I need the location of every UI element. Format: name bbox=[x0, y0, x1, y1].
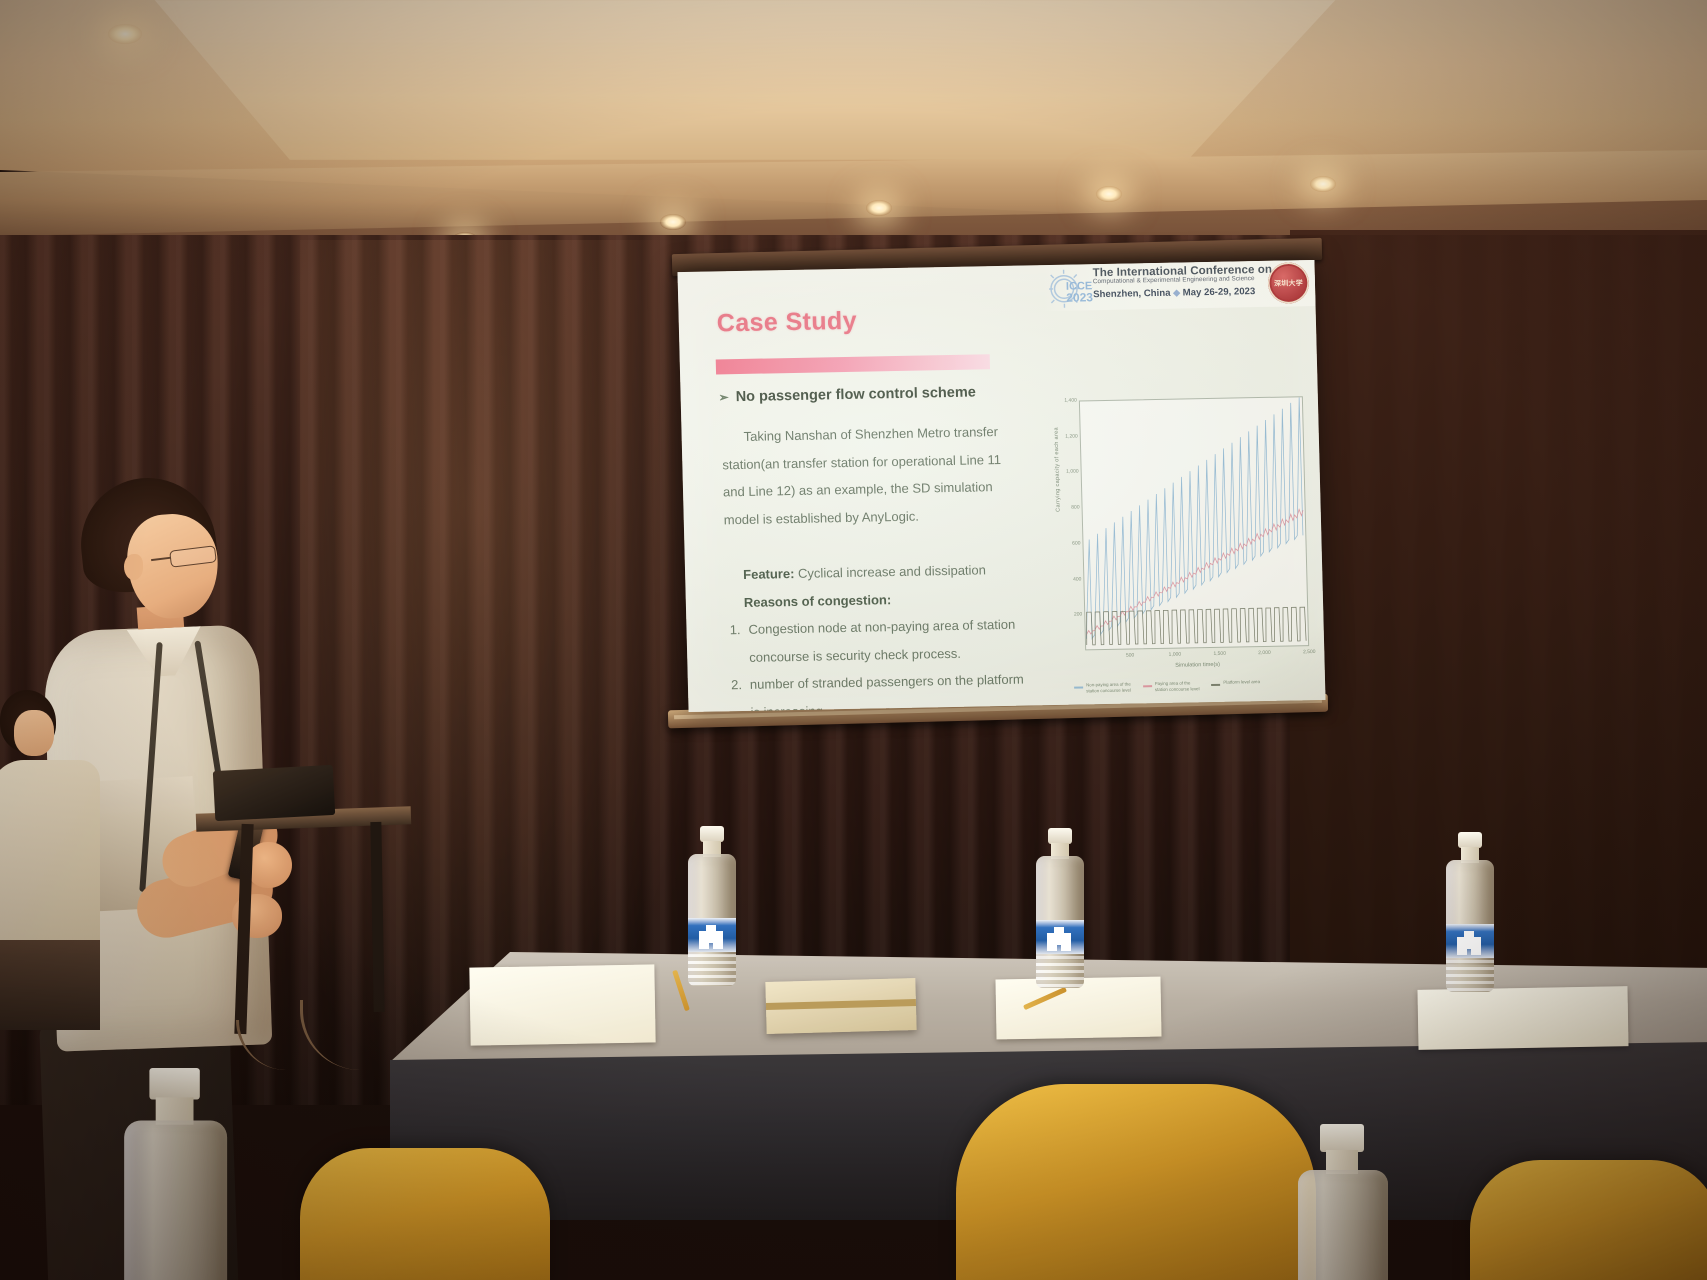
chart-series-svg bbox=[1080, 397, 1308, 649]
conference-room-photo: ICCES 2023 The International Conference … bbox=[0, 0, 1707, 1280]
water-bottle bbox=[1296, 1124, 1392, 1280]
legend-swatch-icon bbox=[1143, 685, 1152, 687]
chart-series-line bbox=[1083, 509, 1306, 635]
water-bottle bbox=[686, 826, 738, 986]
legend-label: Paying area of the station concourse lev… bbox=[1155, 680, 1200, 694]
paper-sheet bbox=[1417, 986, 1628, 1050]
chart-y-tick: 600 bbox=[1056, 540, 1080, 546]
bottle-cap bbox=[1320, 1124, 1364, 1152]
document-folder bbox=[765, 978, 916, 1034]
slide-paragraph: Taking Nanshan of Shenzhen Metro transfe… bbox=[721, 417, 1054, 533]
list-text: number of stranded passengers on the pla… bbox=[750, 666, 1025, 699]
university-seal-icon: 深圳大学 bbox=[1267, 262, 1309, 304]
chart-plot-area bbox=[1079, 396, 1309, 650]
bottle-cap bbox=[149, 1068, 199, 1100]
chart-y-tick: 200 bbox=[1058, 612, 1082, 618]
paper-sheet bbox=[469, 964, 655, 1045]
bottle-label bbox=[1446, 924, 1494, 958]
audience-member-face bbox=[14, 710, 54, 756]
folder-band bbox=[766, 999, 916, 1010]
chart-x-axis-label: Simulation time(s) bbox=[1086, 660, 1310, 670]
bottle-cap bbox=[700, 826, 724, 842]
downlight-icon bbox=[660, 214, 686, 230]
list-text: Congestion node at non-paying area of st… bbox=[748, 611, 1015, 644]
water-bottle bbox=[120, 1068, 233, 1280]
list-number: 2. bbox=[728, 671, 743, 699]
chart-y-tick: 400 bbox=[1057, 576, 1081, 582]
list-number: 1. bbox=[726, 616, 741, 644]
downlight-icon bbox=[108, 24, 142, 44]
chart-x-tick: 1,500 bbox=[1213, 651, 1226, 657]
legend-item: Platform level area bbox=[1211, 679, 1260, 693]
venue-separator-icon: ◆ bbox=[1173, 287, 1180, 297]
conference-name-block: The International Conference on Computat… bbox=[1092, 264, 1272, 300]
chart-y-tick: 1,200 bbox=[1054, 433, 1078, 439]
legend-label: Non-paying area of the station concourse… bbox=[1086, 682, 1131, 696]
title-underline-bar bbox=[716, 354, 990, 374]
bottle-body bbox=[124, 1121, 227, 1280]
slide-brand-bar: ICCES 2023 The International Conference … bbox=[1042, 260, 1315, 311]
icces-gear-logo-icon: ICCES 2023 bbox=[1049, 268, 1094, 309]
bottle-cap bbox=[1048, 828, 1072, 844]
ceiling-recess bbox=[130, 0, 1360, 160]
chair-backrest bbox=[956, 1084, 1316, 1280]
presenter-hand bbox=[246, 842, 292, 888]
chart-y-tick: 1,000 bbox=[1055, 469, 1079, 475]
water-bottle bbox=[1444, 832, 1496, 992]
projection-screen: ICCES 2023 The International Conference … bbox=[660, 246, 1325, 736]
legend-item: Paying area of the station concourse lev… bbox=[1143, 680, 1200, 694]
bottle-label bbox=[1036, 920, 1084, 954]
chart-x-tick: 2,500 bbox=[1303, 649, 1316, 655]
bottle-ridges bbox=[1036, 956, 1084, 988]
bottle-body bbox=[1298, 1170, 1388, 1280]
audience-member-body bbox=[0, 760, 100, 940]
paragraph-line: model is established by AnyLogic. bbox=[723, 500, 1054, 534]
svg-text:2023: 2023 bbox=[1066, 290, 1093, 305]
chart-series-line bbox=[1086, 607, 1306, 645]
chart-y-ticks: 2004006008001,0001,2001,400 bbox=[1053, 390, 1311, 395]
simulation-chart: Carrying capacity of each area 200400600… bbox=[1053, 390, 1319, 695]
downlight-icon bbox=[866, 200, 892, 216]
slide-reasons-list: Feature: Cyclical increase and dissipati… bbox=[725, 555, 1079, 712]
downlight-icon bbox=[1310, 176, 1336, 192]
legend-item: Non-paying area of the station concourse… bbox=[1074, 682, 1131, 696]
chart-x-ticks: 5001,0001,5002,0002,500 bbox=[1053, 390, 1311, 395]
presenter-ear bbox=[124, 554, 143, 580]
chart-legend: Non-paying area of the station concourse… bbox=[1074, 678, 1318, 695]
chart-x-tick: 500 bbox=[1126, 652, 1134, 658]
feature-label: Feature: bbox=[743, 566, 795, 582]
venue-city: Shenzhen, China bbox=[1093, 288, 1171, 300]
bottle-ridges bbox=[688, 954, 736, 986]
feature-text: Cyclical increase and dissipation bbox=[794, 562, 986, 581]
slide-title: Case Study bbox=[716, 307, 857, 339]
venue-dates: May 26-29, 2023 bbox=[1183, 286, 1256, 298]
legend-swatch-icon bbox=[1074, 686, 1083, 688]
bottle-label bbox=[688, 918, 736, 952]
chair-backrest bbox=[1470, 1160, 1707, 1280]
seal-label: 深圳大学 bbox=[1267, 262, 1309, 304]
laptop bbox=[213, 765, 335, 821]
chair-backrest bbox=[300, 1148, 550, 1280]
bottle-ridges bbox=[1446, 960, 1494, 992]
chart-x-tick: 2,000 bbox=[1258, 650, 1271, 656]
legend-label: Platform level area bbox=[1223, 679, 1260, 686]
bottle-cap bbox=[1458, 832, 1482, 848]
chart-y-tick: 800 bbox=[1056, 505, 1080, 511]
conference-title-line2: Computational & Experimental Engineering… bbox=[1093, 276, 1273, 286]
slide-bullet-heading: ➢No passenger flow control scheme bbox=[718, 384, 976, 405]
water-bottle bbox=[1034, 828, 1086, 988]
chart-y-tick: 1,400 bbox=[1053, 398, 1077, 404]
legend-swatch-icon bbox=[1211, 684, 1220, 686]
bullet-heading-text: No passenger flow control scheme bbox=[736, 384, 976, 405]
bullet-arrow-icon: ➢ bbox=[718, 390, 728, 404]
downlight-icon bbox=[1096, 186, 1122, 202]
presentation-slide: ICCES 2023 The International Conference … bbox=[677, 260, 1325, 712]
chart-x-tick: 1,000 bbox=[1169, 652, 1182, 658]
conference-venue-line: Shenzhen, China ◆ May 26-29, 2023 bbox=[1093, 287, 1273, 301]
chart-series-line bbox=[1080, 397, 1305, 639]
